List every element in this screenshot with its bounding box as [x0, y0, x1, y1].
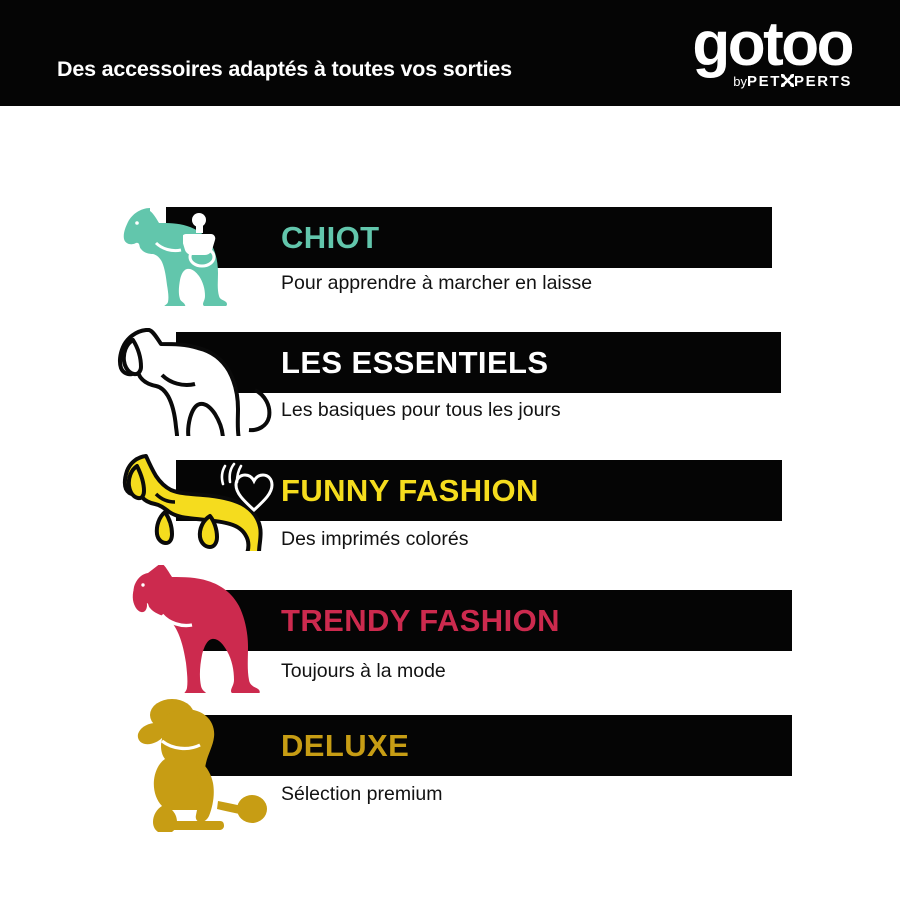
- category-bar: [186, 715, 792, 776]
- logo-wordmark: gotoo: [662, 14, 852, 76]
- category-subtitle: Des imprimés colorés: [281, 528, 468, 551]
- category-subtitle: Toujours à la mode: [281, 660, 446, 683]
- great-dane-sitting-silhouette-icon: [130, 565, 270, 693]
- category-subtitle: Sélection premium: [281, 783, 442, 806]
- pacifier-icon: [183, 212, 229, 268]
- poodle-sitting-silhouette-icon: [132, 697, 274, 832]
- category-title: CHIOT: [281, 207, 379, 268]
- logo-tagline-by: by: [733, 74, 747, 89]
- logo-tagline-brand-right: PERTS: [794, 73, 852, 90]
- category-subtitle: Pour apprendre à marcher en laisse: [281, 272, 592, 295]
- labrador-sitting-outline-icon: [112, 316, 292, 436]
- page-title: Des accessoires adaptés à toutes vos sor…: [57, 57, 512, 82]
- header-banner: Des accessoires adaptés à toutes vos sor…: [0, 0, 900, 106]
- category-title: TRENDY FASHION: [281, 590, 560, 651]
- logo-tagline: byPET PERTS: [662, 74, 852, 91]
- category-title: DELUXE: [281, 715, 409, 776]
- category-title: FUNNY FASHION: [281, 460, 539, 521]
- brand-logo: gotoo byPET PERTS: [662, 18, 852, 96]
- paw-x-icon: [781, 74, 794, 91]
- category-title: LES ESSENTIELS: [281, 332, 548, 393]
- category-subtitle: Les basiques pour tous les jours: [281, 399, 561, 422]
- logo-tagline-brand-left: PET: [747, 73, 781, 90]
- heart-icon: [216, 462, 274, 514]
